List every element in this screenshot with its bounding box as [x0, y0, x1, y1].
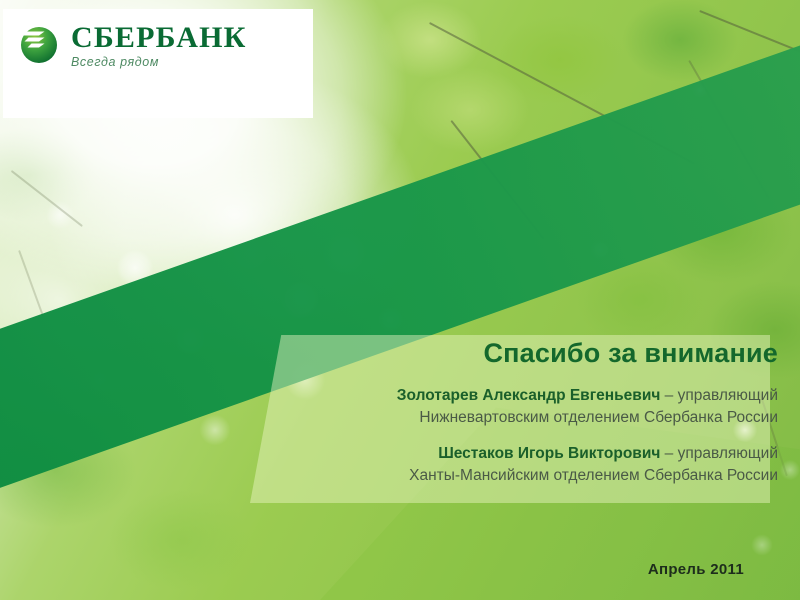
- speaker-entry: Шестаков Игорь Викторович – управляющий …: [240, 443, 778, 487]
- speaker-entry: Золотарев Александр Евгеньевич – управля…: [240, 385, 778, 429]
- speaker-role-line1: управляющий: [678, 445, 778, 462]
- speaker-name: Золотарев Александр Евгеньевич: [397, 387, 661, 404]
- slide-date: Апрель 2011: [648, 561, 744, 578]
- sberbank-emblem-icon: [17, 23, 61, 67]
- logo-plate: СБЕРБАНК Всегда рядом: [3, 9, 313, 118]
- speaker-role-line2: Нижневартовским отделением Сбербанка Рос…: [419, 409, 778, 426]
- speaker-dash: –: [660, 445, 677, 462]
- speaker-role-line1: управляющий: [678, 387, 778, 404]
- logo-wordmark-group: СБЕРБАНК Всегда рядом: [71, 21, 313, 71]
- logo-lockup: СБЕРБАНК Всегда рядом: [17, 21, 313, 71]
- slide-content: Спасибо за внимание Золотарев Александр …: [240, 338, 778, 493]
- speaker-dash: –: [660, 387, 677, 404]
- speaker-role-line2: Ханты-Мансийским отделением Сбербанка Ро…: [409, 467, 778, 484]
- presentation-slide: СБЕРБАНК Всегда рядом Спасибо за внимани…: [0, 0, 800, 600]
- logo-slogan: Всегда рядом: [71, 55, 159, 69]
- page-title: Спасибо за внимание: [240, 338, 778, 369]
- speaker-name: Шестаков Игорь Викторович: [438, 445, 660, 462]
- logo-wordmark: СБЕРБАНК: [71, 21, 247, 54]
